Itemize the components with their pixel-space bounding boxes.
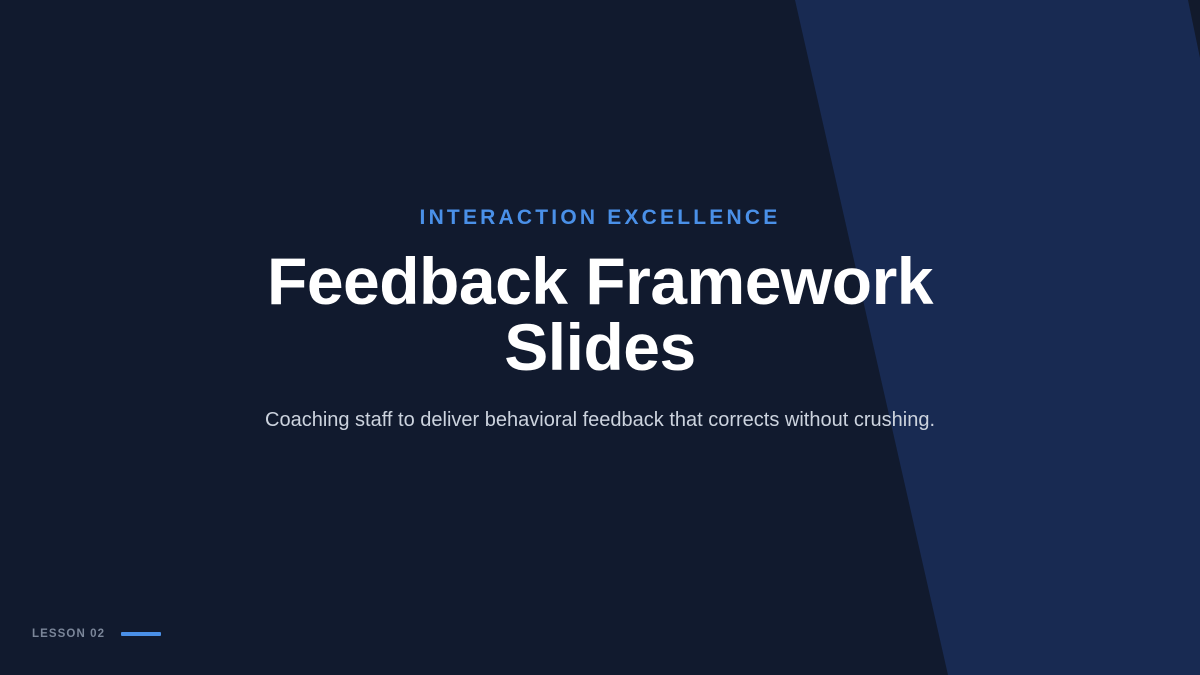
slide-content: INTERACTION EXCELLENCE Feedback Framewor… [0, 0, 1200, 675]
footer-accent-rule [121, 632, 161, 636]
slide-subtitle: Coaching staff to deliver behavioral fee… [260, 404, 940, 436]
slide-title: Feedback Framework Slides [210, 248, 990, 380]
slide-eyebrow: INTERACTION EXCELLENCE [0, 206, 1200, 230]
slide-footer: LESSON 02 [32, 628, 161, 640]
lesson-label: LESSON 02 [32, 628, 105, 640]
presentation-slide: INTERACTION EXCELLENCE Feedback Framewor… [0, 0, 1200, 675]
